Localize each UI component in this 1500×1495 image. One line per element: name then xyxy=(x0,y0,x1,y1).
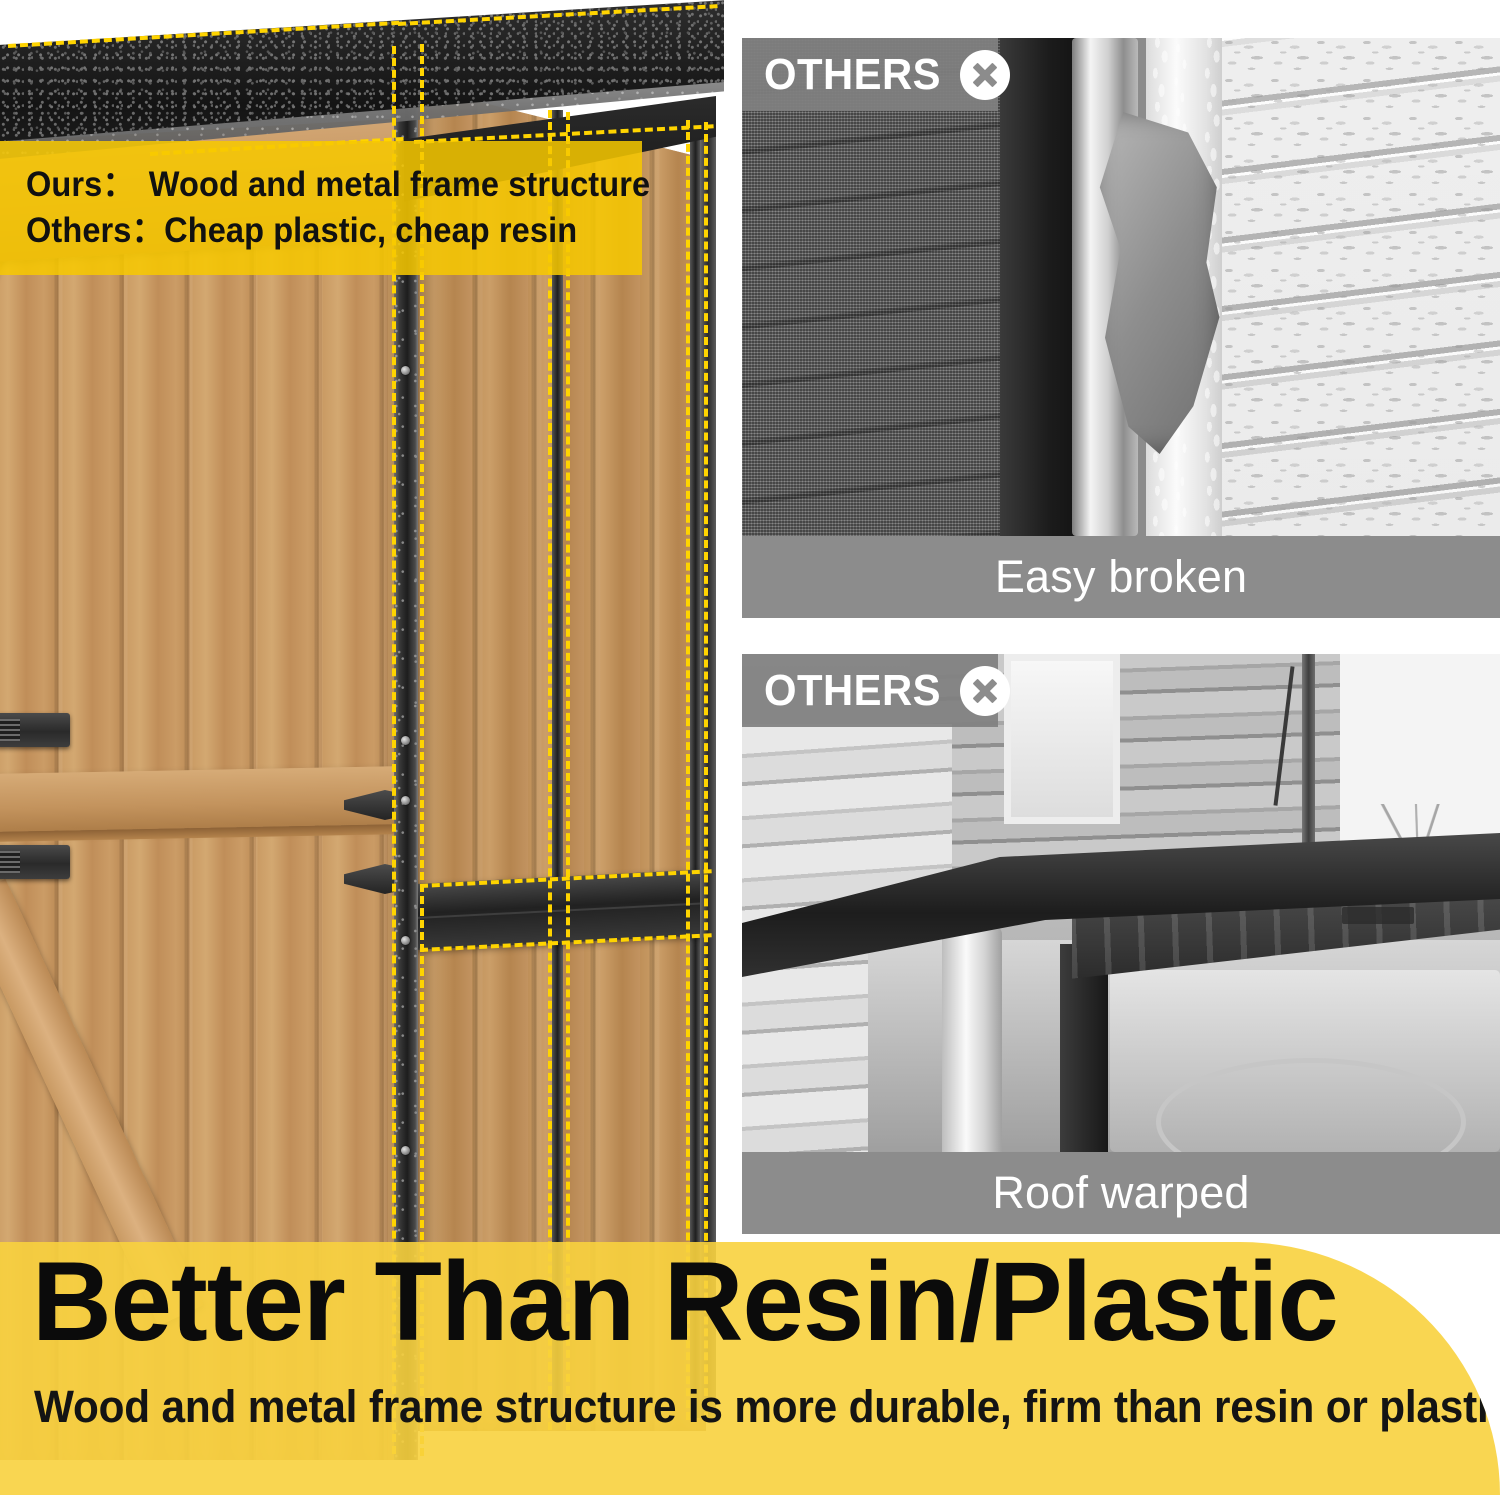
x-mark-icon xyxy=(960,666,1010,716)
bottom-headline-banner: Better Than Resin/Plastic Wood and metal… xyxy=(0,1242,1500,1495)
photo-warped-plastic-roof xyxy=(742,654,1500,1152)
wood-shed-hero-photo: Ours： Wood and metal frame structure Oth… xyxy=(0,0,724,1460)
frame-outline-rear-post xyxy=(704,122,708,1420)
post-screw xyxy=(401,1146,410,1155)
legend-row-ours: Ours： Wood and metal frame structure xyxy=(26,162,599,208)
photo2-shed-corner xyxy=(942,926,1002,1152)
caption-roof-warped: Roof warped xyxy=(742,1152,1500,1234)
photo2-shed-door xyxy=(1110,970,1500,1152)
others-badge-1: OTHERS xyxy=(742,38,998,111)
frame-outline-stud-2 xyxy=(566,112,570,1430)
post-screw xyxy=(401,796,410,805)
post-screw xyxy=(401,936,410,945)
door-hinge-upper xyxy=(0,713,70,747)
comparison-card-easy-broken: OTHERS Easy broken xyxy=(742,38,1500,618)
photo2-brand-mark xyxy=(1342,907,1414,924)
others-badge-2: OTHERS xyxy=(742,654,998,727)
caption-easy-broken: Easy broken xyxy=(742,536,1500,618)
legend-key-others: Others： xyxy=(26,208,164,254)
post-screw xyxy=(401,736,410,745)
others-badge-label-1: OTHERS xyxy=(764,50,941,100)
photo2-window xyxy=(1004,654,1120,824)
photo1-dark-siding xyxy=(742,38,1038,536)
legend-key-ours: Ours： xyxy=(26,162,149,208)
comparison-card-roof-warped: OTHERS Roof warped xyxy=(742,654,1500,1234)
legend-value-others: Cheap plastic, cheap resin xyxy=(164,208,577,254)
post-screw xyxy=(401,366,410,375)
side-wall-stud-1 xyxy=(552,110,563,1420)
photo1-white-siding xyxy=(1222,38,1500,536)
others-badge-label-2: OTHERS xyxy=(764,666,941,716)
shed-rear-corner-post xyxy=(700,120,716,1420)
frame-outline-stud-1 xyxy=(548,110,552,1430)
banner-subtitle: Wood and metal frame structure is more d… xyxy=(34,1382,1388,1432)
legend-value-ours: Wood and metal frame structure xyxy=(149,162,650,208)
product-comparison-infographic: Ours： Wood and metal frame structure Oth… xyxy=(0,0,1500,1495)
door-mid-rail xyxy=(0,766,404,832)
banner-title: Better Than Resin/Plastic xyxy=(32,1246,1431,1358)
door-hinge-lower xyxy=(0,845,70,879)
frame-outline-stud-3 xyxy=(686,120,690,1420)
ours-vs-others-legend: Ours： Wood and metal frame structure Oth… xyxy=(0,141,642,275)
photo-cracked-plastic-panel xyxy=(742,38,1500,536)
x-mark-icon xyxy=(960,50,1010,100)
legend-row-others: Others： Cheap plastic, cheap resin xyxy=(26,208,599,254)
